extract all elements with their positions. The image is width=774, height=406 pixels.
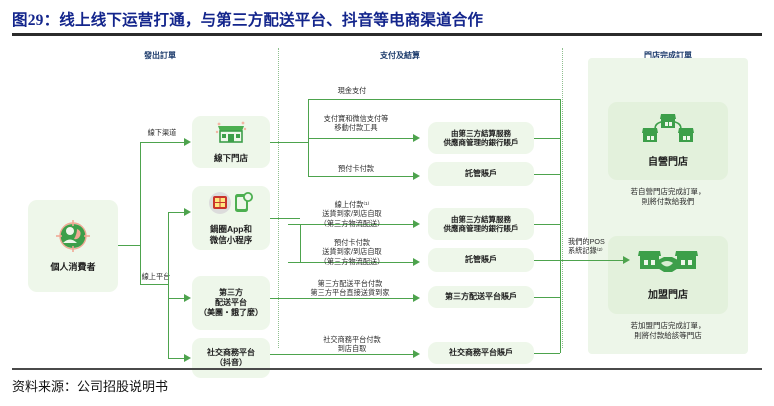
- connector-social-payment: [270, 354, 414, 355]
- consumer-icon: [53, 219, 93, 259]
- node-escrow-account-2-label: 託管賬戶: [465, 255, 497, 265]
- arrow-online-payment: [413, 220, 420, 228]
- connector-tpacct-out: [534, 297, 560, 298]
- connector-prepaid-offline: [308, 176, 414, 177]
- connector-online-trunk: [168, 212, 169, 358]
- node-bank-account-2-label: 由第三方結算服務 供應商管理的銀行賬戶: [444, 215, 519, 234]
- label-offline-channel: 線下渠道: [148, 128, 177, 137]
- note-self-operated: 若自營門店完成訂單， 則將付款給我們: [598, 187, 738, 207]
- title-divider: [12, 33, 762, 36]
- self-store-icon: [639, 112, 697, 154]
- node-third-party-account-label: 第三方配送平台賬戶: [445, 292, 517, 302]
- label-pos-record: 我們的POS 系統記錄⁽²⁾: [568, 237, 605, 256]
- node-offline-store-label: 線下門店: [214, 153, 248, 164]
- arrow-offline: [184, 138, 191, 146]
- connector-app-split: [300, 224, 301, 262]
- connector-bank1-out: [534, 138, 560, 139]
- label-social-payment: 社交商務平台付款 到店自取: [323, 335, 381, 354]
- connector-escrow2-out: [534, 260, 560, 261]
- arrow-social-payment: [413, 350, 420, 358]
- arrow-pos: [623, 256, 630, 264]
- arrow-thirdparty-payment: [413, 294, 420, 302]
- connector-socacct-out: [534, 353, 560, 354]
- arrow-mobile-payment: [413, 134, 420, 142]
- separator-order-payment: [278, 48, 279, 348]
- connector-to-social: [168, 358, 185, 359]
- node-franchised-store[interactable]: 加盟門店: [608, 236, 728, 314]
- label-online-channel: 線上平台: [142, 272, 171, 281]
- connector-consumer-stub: [118, 245, 140, 246]
- connector-mobile-payment: [308, 138, 414, 139]
- node-app-miniprogram[interactable]: 鍋圈App和 微信小程序: [192, 186, 270, 250]
- connector-online-branch: [140, 284, 168, 285]
- node-bank-account-1[interactable]: 由第三方結算服務 供應商管理的銀行賬戶: [428, 122, 534, 154]
- app-miniprogram-icon: [209, 191, 253, 221]
- node-self-operated-store-label: 自營門店: [648, 157, 688, 170]
- node-bank-account-2[interactable]: 由第三方結算服務 供應商管理的銀行賬戶: [428, 208, 534, 240]
- node-third-party-platform-label: 第三方 配送平台 （美團・餓了麼）: [199, 288, 263, 318]
- column-header-order: 發出訂單: [144, 50, 176, 61]
- label-online-payment: 線上付款⁽¹⁾ 送貨到家/到店自取 （第三方物流配送）: [320, 200, 385, 228]
- note-franchised: 若加盟門店完成訂單， 則將付款給該等門店: [598, 321, 738, 341]
- label-mobile-payment: 支付寶和微信支付等 移動付款工具: [324, 114, 389, 133]
- connector-consumer-trunk: [140, 142, 141, 284]
- arrow-thirdparty: [184, 294, 191, 302]
- storefront-icon: [215, 120, 247, 150]
- node-consumer[interactable]: 個人消費者: [28, 200, 118, 292]
- node-third-party-account[interactable]: 第三方配送平台賬戶: [428, 286, 534, 308]
- node-social-account-label: 社交商務平台賬戶: [449, 348, 513, 358]
- node-escrow-account-1-label: 託管賬戶: [465, 169, 497, 179]
- connector-escrow1-out: [534, 174, 560, 175]
- diagram-canvas: 發出訂單 支付及結算 門店完成訂單: [0, 40, 774, 365]
- node-social-account[interactable]: 社交商務平台賬戶: [428, 342, 534, 364]
- node-bank-account-1-label: 由第三方結算服務 供應商管理的銀行賬戶: [444, 129, 519, 148]
- page-title: 图29：线上线下运营打通，与第三方配送平台、抖音等电商渠道合作: [12, 8, 483, 30]
- column-header-payment: 支付及結算: [380, 50, 420, 61]
- connector-to-thirdparty: [168, 298, 185, 299]
- footer-divider: [12, 368, 762, 370]
- connector-thirdparty-payment: [270, 298, 414, 299]
- label-cash-payment: 現金支付: [338, 86, 367, 95]
- node-social-commerce-label: 社交商務平台 （抖音）: [207, 348, 255, 368]
- connector-offline-out: [270, 142, 308, 143]
- node-third-party-platform[interactable]: 第三方 配送平台 （美團・餓了麼）: [192, 276, 270, 330]
- arrow-app: [184, 208, 191, 216]
- arrow-prepaid-offline: [413, 172, 420, 180]
- label-prepaid-offline: 預付卡付款: [338, 164, 374, 173]
- node-escrow-account-2[interactable]: 託管賬戶: [428, 248, 534, 272]
- label-prepaid-online: 預付卡付款 送貨到家/到店自取 （第三方物流配送）: [320, 238, 385, 266]
- node-consumer-label: 個人消費者: [50, 262, 95, 273]
- connector-offline-branch: [140, 142, 185, 143]
- node-social-commerce[interactable]: 社交商務平台 （抖音）: [192, 338, 270, 378]
- connector-cash-top: [308, 99, 560, 100]
- connector-app-out: [270, 218, 300, 219]
- label-thirdparty-payment: 第三方配送平台付款 第三方平台直接送貨到家: [310, 279, 389, 298]
- node-offline-store[interactable]: 線下門店: [192, 116, 270, 168]
- arrow-social: [184, 354, 191, 362]
- arrow-prepaid-online: [413, 258, 420, 266]
- handshake-store-icon: [636, 247, 700, 287]
- separator-payment-fulfillment: [562, 48, 563, 348]
- node-app-miniprogram-label: 鍋圈App和 微信小程序: [210, 224, 253, 245]
- source-note: 资料来源：公司招股说明书: [12, 376, 168, 395]
- connector-pos-out: [560, 260, 624, 261]
- connector-to-app: [168, 212, 185, 213]
- node-franchised-store-label: 加盟門店: [648, 290, 688, 303]
- connector-bank2-out: [534, 224, 560, 225]
- node-escrow-account-1[interactable]: 託管賬戶: [428, 162, 534, 186]
- connector-payment-bus: [560, 99, 561, 353]
- figure-page: 图29：线上线下运营打通，与第三方配送平台、抖音等电商渠道合作 發出訂單 支付及…: [0, 0, 774, 406]
- node-self-operated-store[interactable]: 自營門店: [608, 102, 728, 180]
